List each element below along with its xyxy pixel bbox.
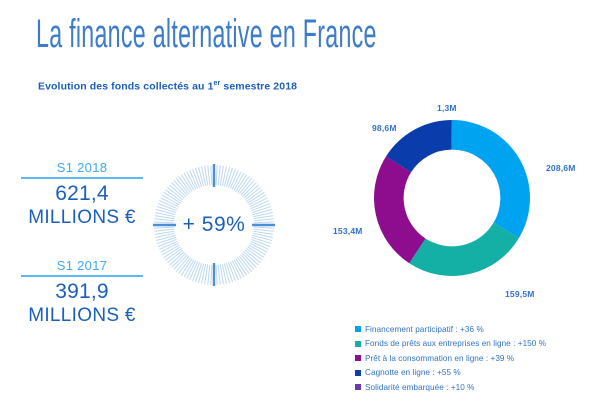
subtitle-text-after: semestre 2018 [220,81,297,93]
gauge-value-label: + 59% [152,163,276,287]
chart-legend: Financement participatif : +36 %Fonds de… [355,322,546,395]
page-title: La finance alternative en France [36,11,377,57]
subtitle: Evolution des fonds collectés au 1er sem… [38,80,297,93]
donut-slice [409,223,519,276]
legend-label: Financement participatif : +36 % [365,325,484,334]
donut-slices [372,118,532,278]
stat-divider-2018 [21,177,143,179]
donut-value-label-cagnotte: 98,6M [372,123,397,133]
legend-swatch-icon [355,370,361,376]
legend-swatch-icon [355,384,361,390]
subtitle-text-before: Evolution des fonds collectés au 1 [38,81,214,93]
stat-divider-2017 [21,275,143,277]
donut-value-label-financement-participatif: 208,6M [546,163,576,173]
legend-item[interactable]: Prêt à la consommation en ligne : +39 % [355,351,546,366]
stat-period-2017: S1 2017 [14,258,150,274]
legend-swatch-icon [355,326,361,332]
legend-label: Prêt à la consommation en ligne : +39 % [365,354,514,363]
donut-slice [452,120,530,238]
donut-slice [374,157,425,264]
stat-period-2018: S1 2018 [14,160,150,176]
legend-swatch-icon [355,355,361,361]
stat-amount-2018: 621,4 [14,181,150,206]
stat-unit-2018: MILLIONS € [14,206,150,229]
legend-swatch-icon [355,341,361,347]
stat-amount-2017: 391,9 [14,279,150,304]
stat-block-2018: S1 2018 621,4 MILLIONS € [14,160,150,229]
legend-item[interactable]: Financement participatif : +36 % [355,322,546,337]
legend-label: Solidarité embarquée : +10 % [365,383,475,392]
donut-value-label-pret-consommation: 153,4M [333,226,363,236]
stat-unit-2017: MILLIONS € [14,304,150,327]
donut-value-label-solidarite: 1,3M [437,103,457,113]
legend-item[interactable]: Fonds de prêts aux entreprises en ligne … [355,337,546,352]
legend-item[interactable]: Cagnotte en ligne : +55 % [355,366,546,381]
donut-value-label-fonds-de-prets: 159,5M [505,289,535,299]
donut-chart [372,118,532,278]
legend-label: Fonds de prêts aux entreprises en ligne … [365,339,546,348]
legend-item[interactable]: Solidarité embarquée : +10 % [355,380,546,395]
growth-gauge: + 59% [152,163,276,287]
stat-block-2017: S1 2017 391,9 MILLIONS € [14,258,150,327]
legend-label: Cagnotte en ligne : +55 % [365,368,461,377]
